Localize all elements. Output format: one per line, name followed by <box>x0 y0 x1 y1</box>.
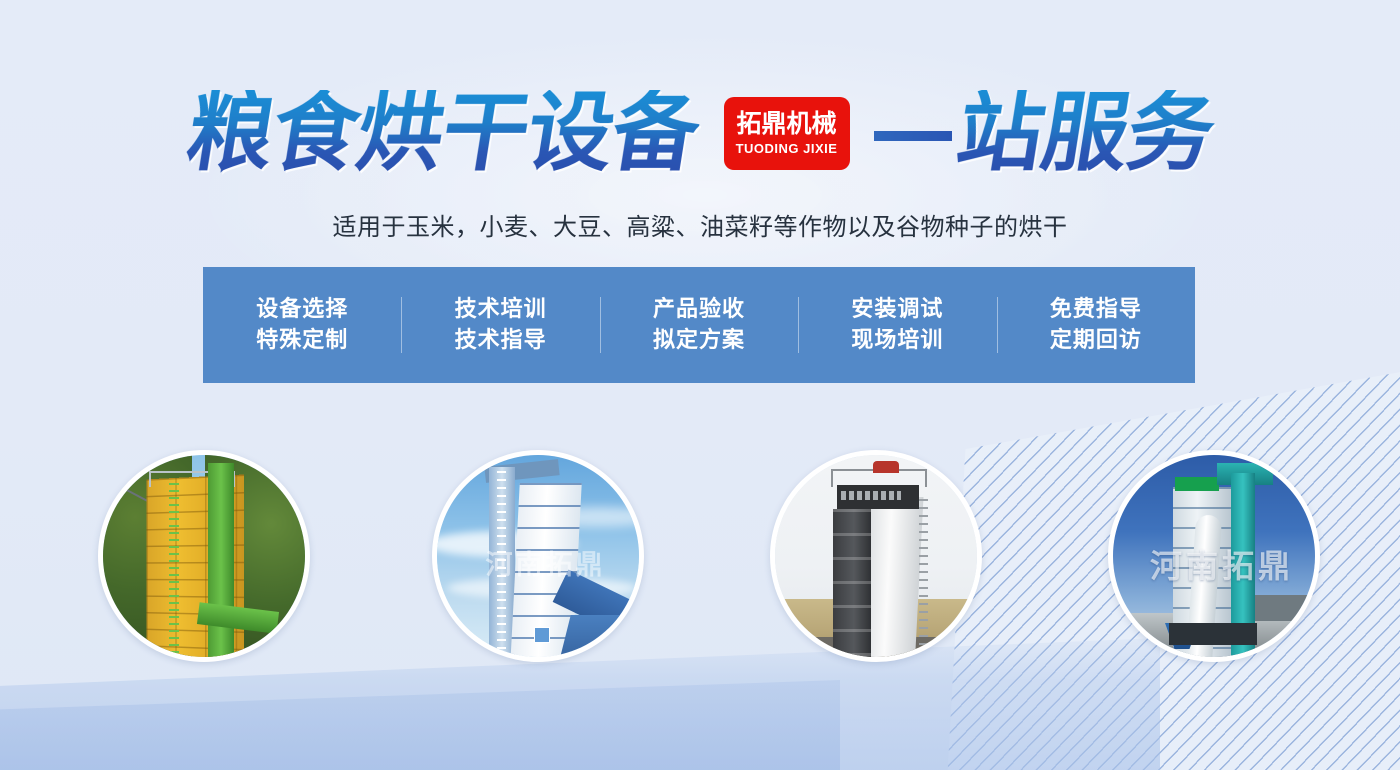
p1-ladder <box>169 483 179 657</box>
p3-signage <box>841 491 901 500</box>
photo-3-image <box>775 455 977 657</box>
brand-name-cn: 拓鼎机械 <box>736 110 836 138</box>
p3-column-steps <box>833 509 871 657</box>
service-item-1-line1: 设备选择 <box>256 297 348 322</box>
brand-name-en: TUODING JIXIE <box>736 141 838 156</box>
photo-circle-1[interactable] <box>98 450 310 662</box>
photo-1-image <box>103 455 305 657</box>
photo-4-image: 河南拓鼎 <box>1113 455 1315 657</box>
p4-green-sign <box>1175 477 1219 491</box>
photo-2-image: 河南拓鼎 <box>437 455 639 657</box>
p2-chute-lower <box>559 615 632 657</box>
p3-dark-column <box>833 509 871 657</box>
service-item-5[interactable]: 免费指导 定期回访 <box>997 297 1195 354</box>
photo-circle-4[interactable]: 河南拓鼎 <box>1108 450 1320 662</box>
p3-red-equipment <box>873 461 899 473</box>
p4-base-machinery <box>1169 623 1257 645</box>
subtitle: 适用于玉米，小麦、大豆、高粱、油菜籽等作物以及谷物种子的烘干 <box>0 207 1400 242</box>
service-item-1[interactable]: 设备选择 特殊定制 <box>203 297 401 354</box>
service-item-3-line2: 拟定方案 <box>653 328 745 353</box>
p3-ladder <box>919 499 928 657</box>
photo-circle-2[interactable]: 河南拓鼎 <box>432 450 644 662</box>
photo-circle-3[interactable] <box>770 450 982 662</box>
service-item-3-line1: 产品验收 <box>653 297 745 322</box>
service-item-2-line1: 技术培训 <box>455 297 547 322</box>
service-item-5-line1: 免费指导 <box>1050 297 1142 322</box>
photo-2-watermark: 河南拓鼎 <box>463 543 628 582</box>
photo-4-watermark: 河南拓鼎 <box>1127 541 1315 587</box>
service-item-1-line2: 特殊定制 <box>256 328 348 353</box>
headline-left-text: 粮食烘干设备 <box>181 90 705 176</box>
service-item-4-line1: 安装调试 <box>851 297 943 322</box>
photo-gallery: 河南拓鼎 <box>0 450 1400 680</box>
service-item-3[interactable]: 产品验收 拟定方案 <box>600 297 798 354</box>
p2-control-panel <box>534 627 550 643</box>
headline-right-text: 站服务 <box>951 90 1220 176</box>
service-item-5-line2: 定期回访 <box>1050 328 1142 353</box>
service-item-4[interactable]: 安装调试 现场培训 <box>798 297 996 354</box>
headline-dash-icon <box>874 131 952 141</box>
service-item-2-line2: 技术指导 <box>455 328 547 353</box>
promo-banner: 粮食烘干设备 拓鼎机械 TUODING JIXIE 站服务 适用于玉米，小麦、大… <box>0 0 1400 770</box>
headline: 粮食烘干设备 拓鼎机械 TUODING JIXIE 站服务 <box>0 78 1400 188</box>
service-item-2[interactable]: 技术培训 技术指导 <box>401 297 599 354</box>
p3-dryer-body <box>862 497 923 657</box>
service-item-4-line2: 现场培训 <box>851 328 943 353</box>
services-bar: 设备选择 特殊定制 技术培训 技术指导 产品验收 拟定方案 安装调试 现场培训 … <box>203 267 1195 383</box>
brand-logo-badge: 拓鼎机械 TUODING JIXIE <box>724 97 850 170</box>
